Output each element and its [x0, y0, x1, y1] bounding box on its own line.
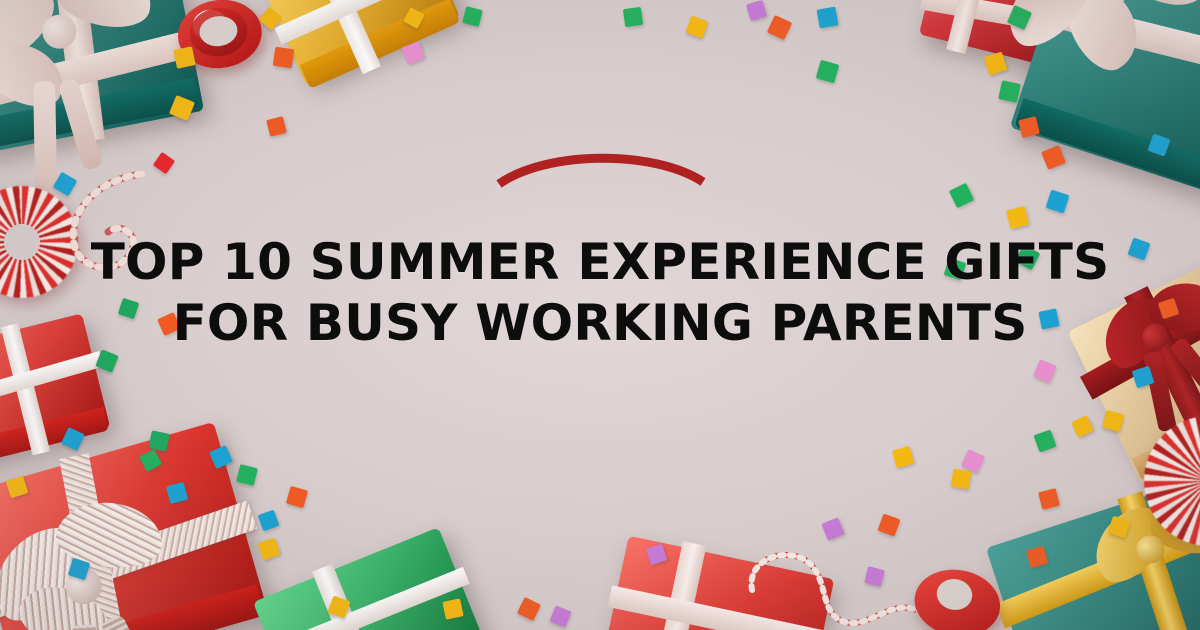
red-curved-underline-swoosh	[495, 148, 707, 192]
blog-header-banner: TOP 10 SUMMER EXPERIENCE GIFTS FOR BUSY …	[0, 0, 1200, 630]
confetti-square	[877, 513, 900, 536]
confetti-square	[1033, 359, 1056, 382]
confetti-square	[148, 430, 169, 451]
confetti-square	[517, 597, 541, 621]
confetti-square	[549, 605, 571, 627]
confetti-square	[157, 312, 181, 336]
confetti-square	[286, 486, 308, 508]
confetti-square	[951, 469, 972, 490]
confetti-square	[767, 15, 792, 40]
pom-pom-red-white-bottom-right	[1144, 416, 1200, 546]
confetti-square	[1006, 206, 1029, 229]
confetti-square	[1033, 429, 1056, 452]
confetti-square	[746, 0, 767, 21]
confetti-square	[1038, 308, 1059, 329]
confetti-square	[892, 446, 914, 468]
confetti-square	[949, 183, 974, 208]
confetti-square	[1038, 488, 1060, 510]
confetti-square	[685, 15, 708, 38]
confetti-square	[1046, 190, 1070, 214]
confetti-square	[1071, 415, 1094, 438]
confetti-square	[961, 449, 985, 473]
confetti-square	[462, 6, 483, 27]
confetti-square	[258, 510, 280, 532]
confetti-square	[118, 298, 139, 319]
confetti-square	[816, 60, 840, 84]
gift-box-teal-top-left	[0, 0, 206, 164]
confetti-square	[1127, 237, 1150, 260]
confetti-square	[266, 116, 287, 137]
confetti-square	[623, 7, 643, 27]
confetti-square	[998, 80, 1021, 103]
confetti-square	[173, 46, 196, 69]
confetti-square	[442, 598, 463, 619]
confetti-square	[273, 47, 294, 68]
confetti-square	[1015, 245, 1041, 271]
confetti-square	[816, 6, 838, 28]
confetti-square	[944, 258, 967, 281]
